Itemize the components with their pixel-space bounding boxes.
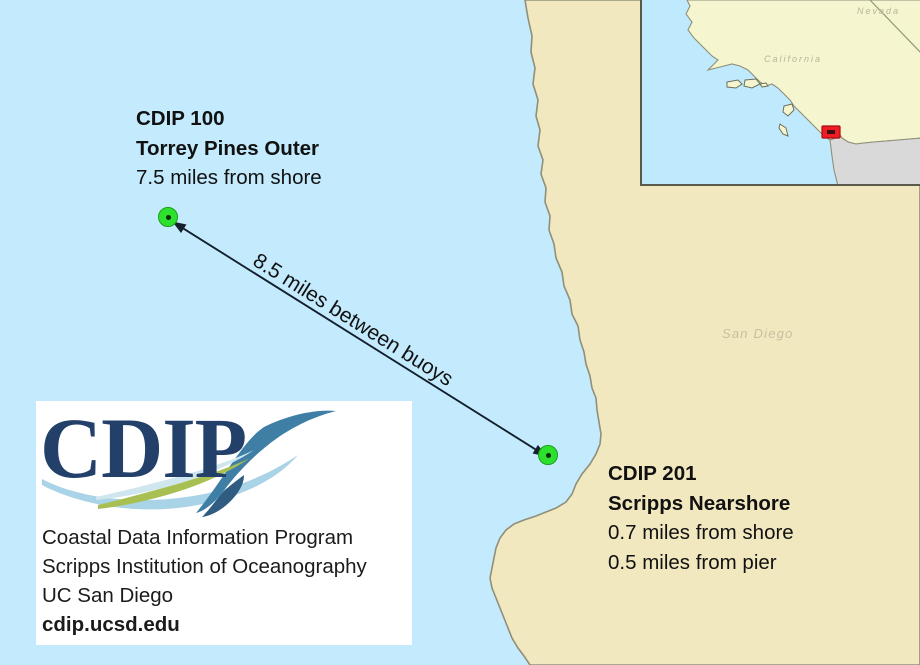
cdip-logo-text-block: Coastal Data Information Program Scripps… <box>42 523 412 639</box>
inset-label-nevada: Nevada <box>857 6 900 16</box>
callout-cdip-100: CDIP 100 Torrey Pines Outer 7.5 miles fr… <box>136 104 322 193</box>
inset-highlight-box-core <box>827 130 835 134</box>
inset-label-california: California <box>764 54 822 64</box>
callout-cdip-201: CDIP 201 Scripps Nearshore 0.7 miles fro… <box>608 459 794 577</box>
logo-line-university: UC San Diego <box>42 581 412 610</box>
callout-cdip-201-line-2: Scripps Nearshore <box>608 489 794 519</box>
logo-line-website[interactable]: cdip.ucsd.edu <box>42 610 412 639</box>
callout-cdip-100-line-1: CDIP 100 <box>136 104 322 134</box>
callout-cdip-100-line-3: 7.5 miles from shore <box>136 163 322 193</box>
logo-line-program: Coastal Data Information Program <box>42 523 412 552</box>
callout-cdip-201-line-4: 0.5 miles from pier <box>608 548 794 578</box>
cdip-logo-card: CDIP Coastal Data Information Program Sc… <box>36 401 412 645</box>
buoy-marker-cdip-100[interactable] <box>158 207 178 227</box>
inset-locator-map[interactable]: California Nevada <box>640 0 920 186</box>
map-figure: San Diego 8.5 miles between buoys CDIP 1… <box>0 0 920 665</box>
buoy-marker-cdip-201[interactable] <box>538 445 558 465</box>
logo-line-institution: Scripps Institution of Oceanography <box>42 552 412 581</box>
inset-map-graphic <box>642 0 920 186</box>
callout-cdip-100-line-2: Torrey Pines Outer <box>136 134 322 164</box>
inset-island-anacapa <box>760 83 768 87</box>
logo-wordmark: CDIP <box>40 401 246 496</box>
callout-cdip-201-line-1: CDIP 201 <box>608 459 794 489</box>
cdip-logo-artwork: CDIP <box>36 401 412 521</box>
callout-cdip-201-line-3: 0.7 miles from shore <box>608 518 794 548</box>
